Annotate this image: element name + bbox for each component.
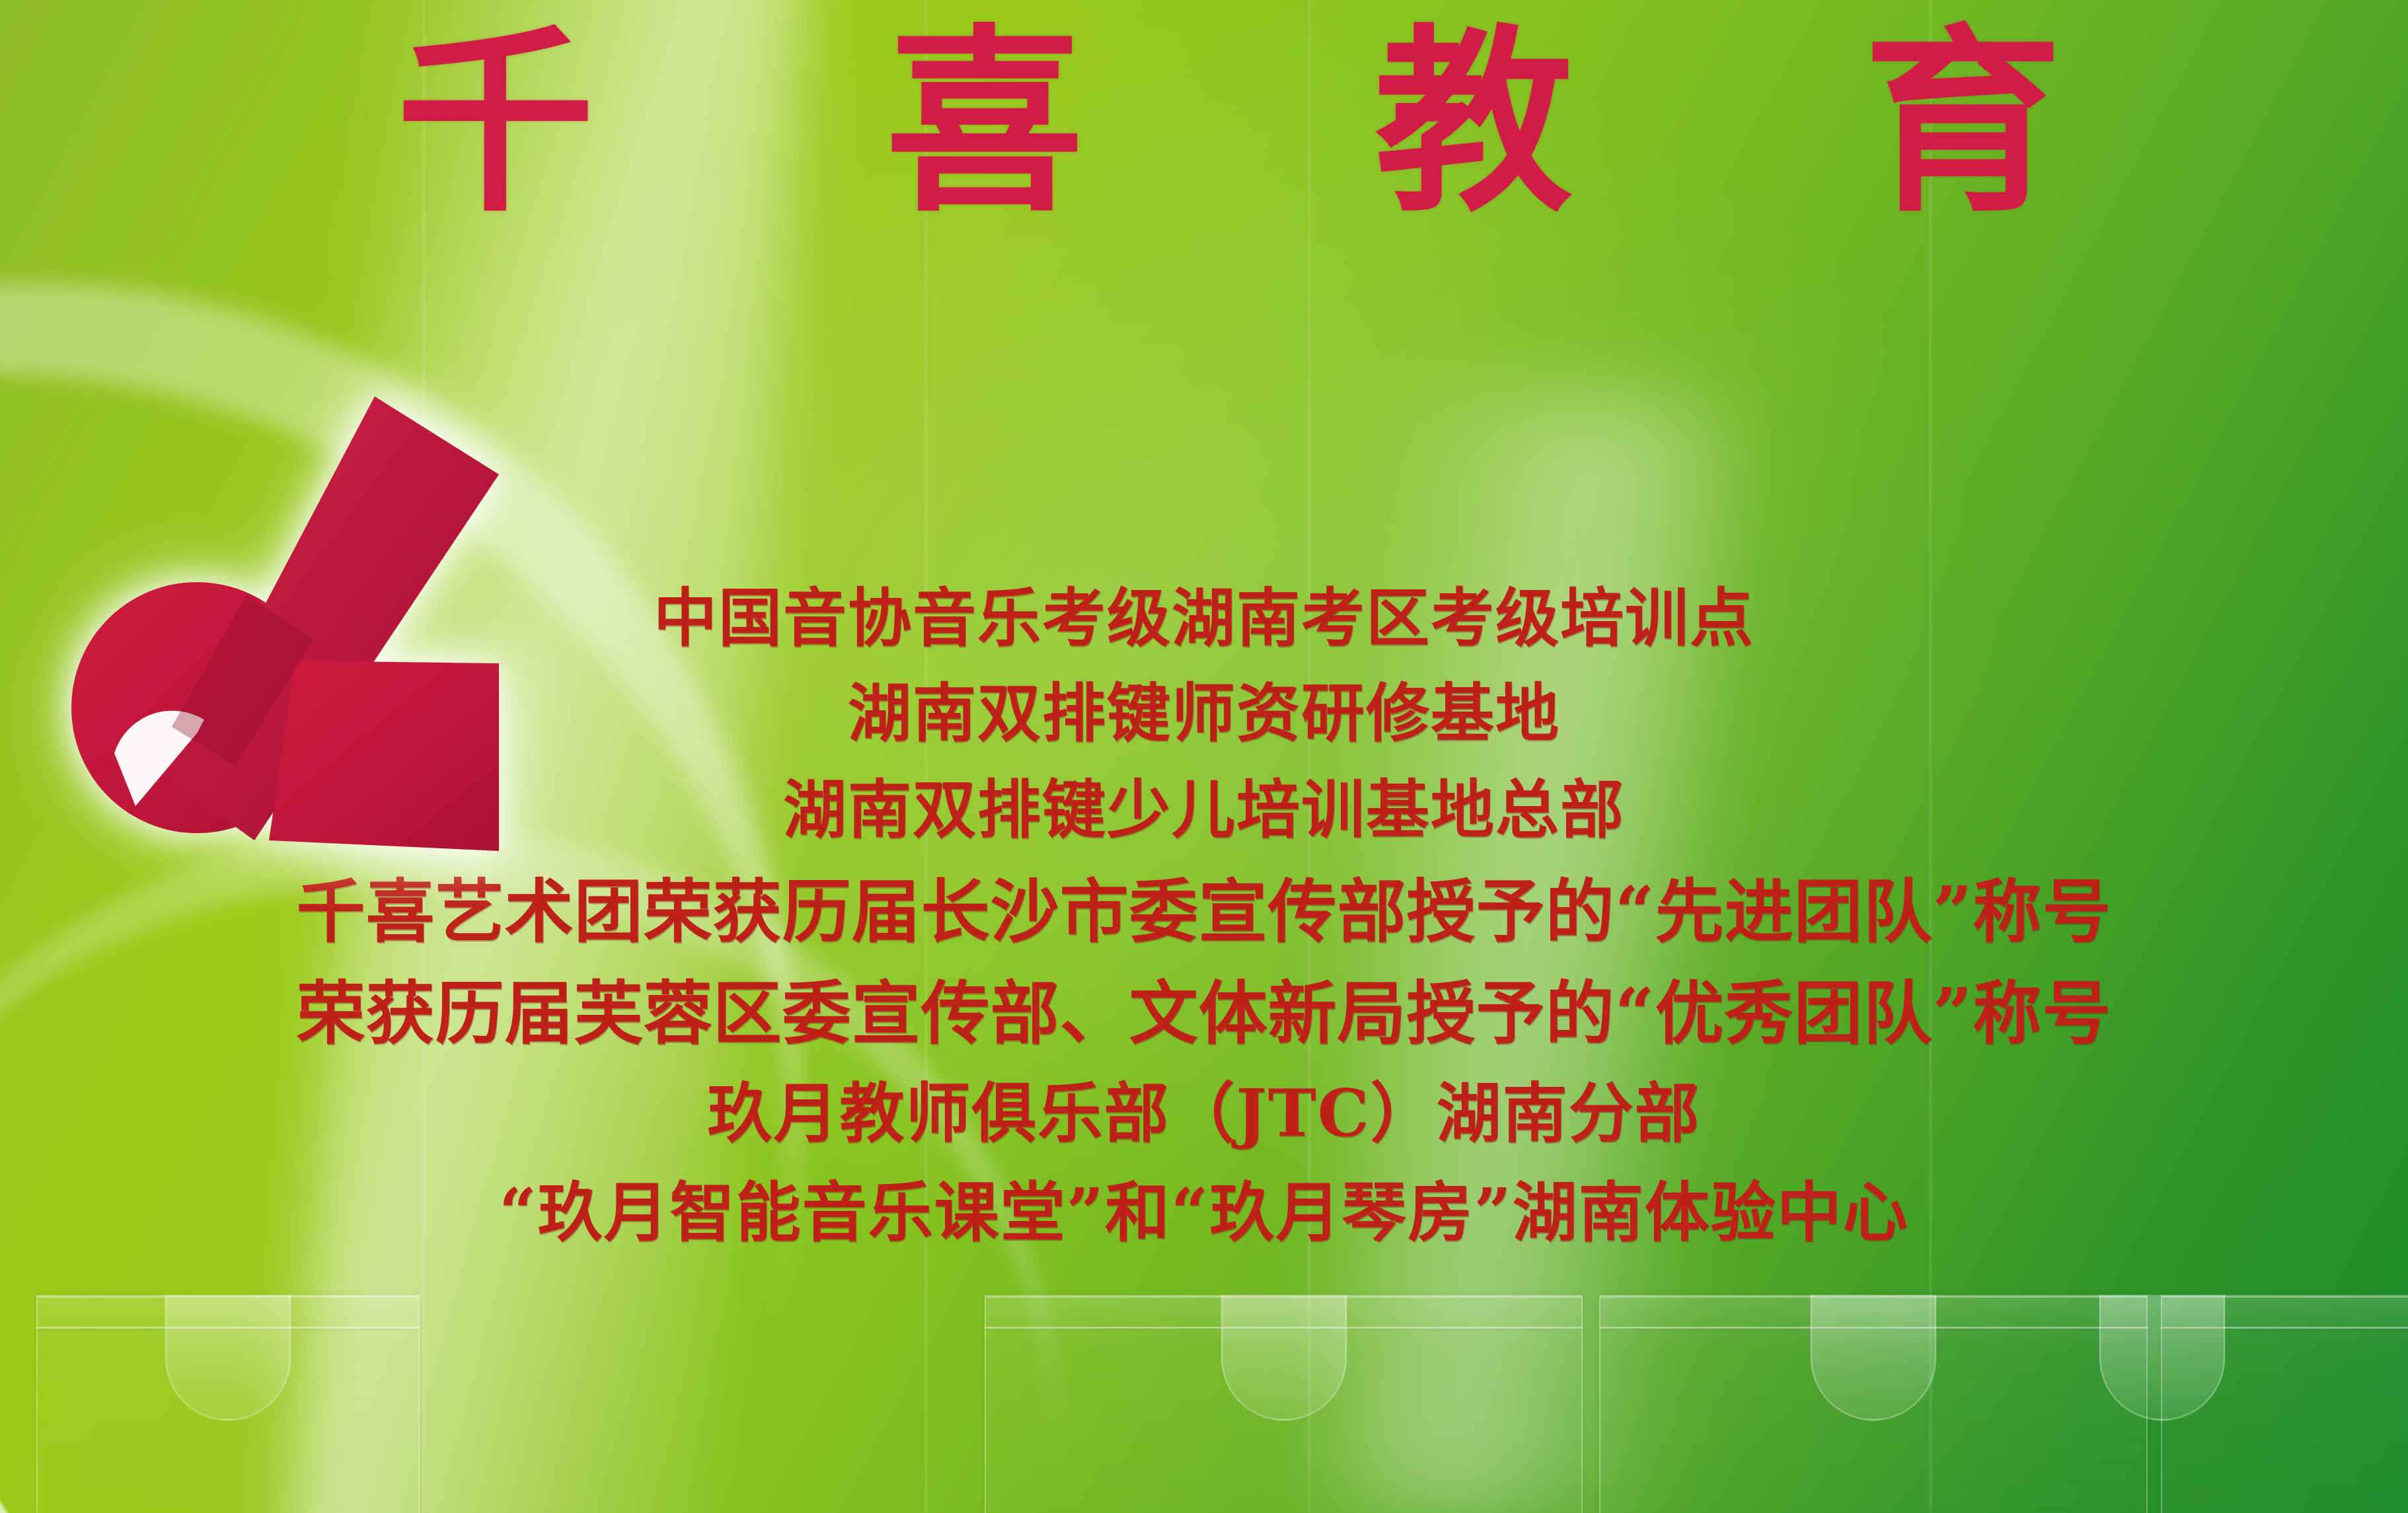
title-char-4: 育 [1863,23,2062,221]
title-char-1: 千 [396,23,595,221]
brochure-pocket-3[interactable] [1599,1295,2148,1513]
brochure-pocket-2[interactable] [985,1295,1583,1513]
qianxi-ribbon-logo [36,396,539,885]
title-char-2: 喜 [885,23,1084,221]
pocket-thumb-notch-icon [2099,1295,2225,1421]
brochure-pocket-1[interactable] [36,1295,420,1513]
credential-line-6: 玖月教师俱乐部（JTC）湖南分部 [0,1076,2408,1152]
pocket-thumb-notch-icon [165,1295,291,1421]
title-char-3: 教 [1374,23,1573,221]
pocket-thumb-notch-icon [1811,1295,1936,1421]
page-title: 千 喜 教 育 [396,13,2062,231]
pocket-thumb-notch-icon [1221,1295,1347,1421]
signage-wall-panel: 千 喜 教 育 中国音协音乐考级湖南考区考级培训点 湖南双排键师资研修基地 湖南… [0,0,2408,1513]
credential-line-5: 荣获历届芙蓉区委宣传部、文体新局授予的“优秀团队”称号 [0,974,2408,1053]
brochure-pocket-4[interactable] [2161,1295,2408,1513]
credential-line-7: “玖月智能音乐课堂”和“玖月琴房”湖南体验中心 [0,1175,2408,1251]
